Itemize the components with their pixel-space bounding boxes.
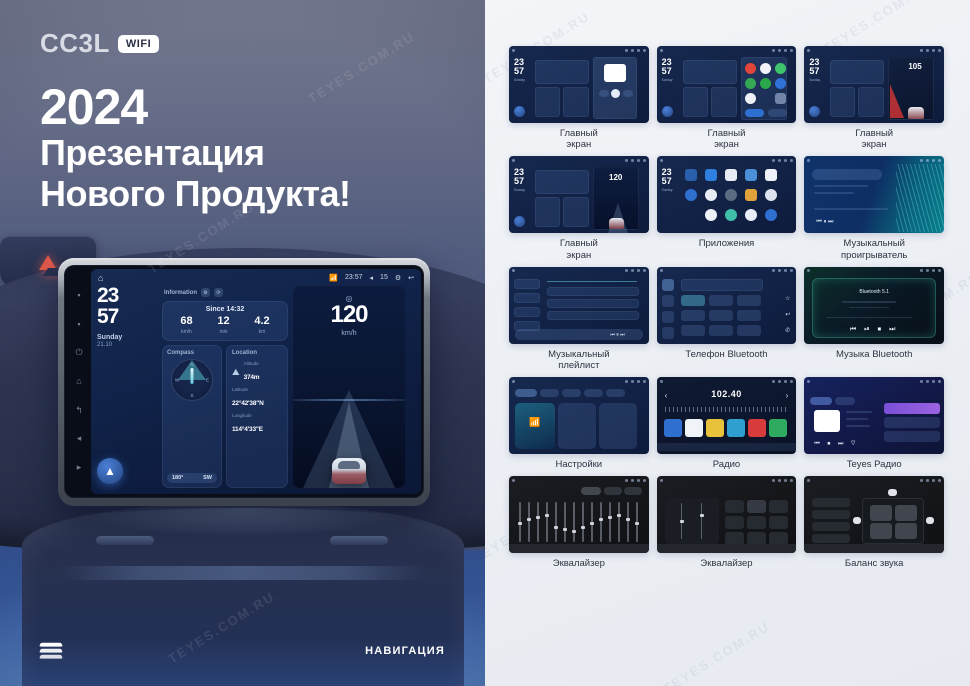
thumbnail-equalizer-bands[interactable] bbox=[509, 476, 649, 553]
radio-next-icon[interactable]: › bbox=[786, 391, 789, 400]
gallery-item[interactable]: 2357Sunday 120 Главныйэкран bbox=[509, 156, 649, 260]
gallery-item[interactable]: 📶 Настройки bbox=[509, 377, 649, 470]
gallery-item[interactable]: 2357Sunday 105 Главныйэкран bbox=[804, 46, 944, 150]
trip-stats-row: 68 km/h 12 min 4.2 km bbox=[168, 316, 282, 335]
wifi-badge: WIFI bbox=[118, 35, 159, 53]
compass-west-label: W bbox=[175, 378, 179, 383]
navigation-speed-widget[interactable]: ◎ 120 km/h bbox=[293, 286, 405, 488]
clock-hours: 23 bbox=[97, 286, 157, 307]
thumbnail-grid: 2357Sunday Главныйэкран 2357Sunday bbox=[485, 0, 970, 570]
stat-unit: min bbox=[217, 329, 229, 335]
thumbnail-caption: Баланс звука bbox=[845, 558, 904, 569]
screen-bezel: ▪ ▪ ⏻ ⌂ ↰ ◂ ▸ ⌂ 📶 23:57 ◂ 1 bbox=[64, 265, 424, 498]
home-key-icon[interactable]: ⌂ bbox=[76, 377, 81, 386]
stat-value: 68 bbox=[180, 316, 192, 327]
lower-widgets: Compass N E S W bbox=[162, 345, 288, 488]
compass-readout: 180° SW bbox=[167, 473, 217, 483]
navigation-label: НАВИГАЦИЯ bbox=[365, 645, 445, 657]
widget-column: Information ⚙ ⟳ Since 14:32 68 km/h bbox=[162, 286, 288, 488]
clock-widget: 23 57 Sunday 21.10 ▲ bbox=[97, 286, 157, 488]
bt-version-label: Bluetooth 5.1 bbox=[804, 289, 944, 295]
information-header: Information ⚙ ⟳ bbox=[162, 286, 288, 297]
thumbnail-sound-balance[interactable] bbox=[804, 476, 944, 553]
trip-stat: 4.2 km bbox=[254, 316, 269, 335]
volume-icon[interactable]: ◂ bbox=[370, 274, 374, 282]
gear-icon[interactable]: ⚙ bbox=[201, 288, 210, 297]
hazard-triangle-icon bbox=[39, 255, 57, 270]
compass-rose: N E S W bbox=[171, 359, 213, 401]
stat-value: 4.2 bbox=[254, 316, 269, 327]
head-unit-device: ▪ ▪ ⏻ ⌂ ↰ ◂ ▸ ⌂ 📶 23:57 ◂ 1 bbox=[58, 258, 430, 506]
gallery-item[interactable]: 2357Sunday Главныйэкран bbox=[657, 46, 797, 150]
thumbnail-home-speed[interactable]: 2357Sunday 120 bbox=[509, 156, 649, 233]
thumbnail-caption: Музыкальныйплейлист bbox=[548, 349, 609, 371]
location-widget[interactable]: Location ⛰ Altitude 374m bbox=[226, 345, 288, 488]
latitude-label: Latitude bbox=[232, 387, 282, 392]
clock-weekday: Sunday bbox=[97, 334, 157, 341]
thumbnail-music-player[interactable]: ⏮ ⏸ ⏭ bbox=[804, 156, 944, 233]
thumbnail-music-playlist[interactable]: ⏮ ⏸ ⏭ bbox=[509, 267, 649, 344]
longitude-row: Longitude 114°4'33"E bbox=[232, 413, 282, 436]
promo-footer: НАВИГАЦИЯ bbox=[0, 616, 485, 686]
hardkey-icon[interactable]: ▪ bbox=[77, 291, 80, 300]
thumbnail-bt-music[interactable]: Bluetooth 5.1 ⏮ ⏯ ⏹ ⏭ bbox=[804, 267, 944, 344]
gallery-item[interactable]: 102.40 ‹ › Радио bbox=[657, 377, 797, 470]
status-bar: ⌂ 📶 23:57 ◂ 15 ⚙ ↩ bbox=[91, 269, 421, 286]
gear-icon[interactable]: ⚙ bbox=[395, 274, 401, 282]
clock-date: 21.10 bbox=[97, 342, 157, 348]
air-vent-right bbox=[330, 536, 388, 545]
gallery-item[interactable]: ⏮ ⏹ ⏭ ♡ Teyes Радио bbox=[804, 377, 944, 470]
refresh-icon[interactable]: ⟳ bbox=[214, 288, 223, 297]
thumbnail-radio[interactable]: 102.40 ‹ › bbox=[657, 377, 797, 454]
thumbnail-teyes-radio[interactable]: ⏮ ⏹ ⏭ ♡ bbox=[804, 377, 944, 454]
gallery-item[interactable]: Эквалайзер bbox=[657, 476, 797, 569]
thumbnail-caption: Музыкальныйпроигрыватель bbox=[841, 238, 907, 260]
compass-widget[interactable]: Compass N E S W bbox=[162, 345, 222, 488]
gallery-item[interactable]: ⏮ ⏸ ⏭ Музыкальныйплейлист bbox=[509, 267, 649, 371]
promo-left-panel: TEYES.COM.RU TEYES.COM.RU TEYES.COM.RU C… bbox=[0, 0, 485, 686]
thumbnail-home-media[interactable]: 2357Sunday bbox=[509, 46, 649, 123]
thumbnail-caption: Главныйэкран bbox=[855, 128, 893, 150]
volume-level: 15 bbox=[380, 274, 388, 281]
gallery-item[interactable]: Эквалайзер bbox=[509, 476, 649, 569]
compass-south-label: S bbox=[190, 393, 193, 398]
thumbnail-caption: Teyes Радио bbox=[847, 459, 902, 470]
compass-heading: 180° bbox=[172, 475, 183, 481]
thumbnail-apps-grid[interactable]: 2357Sunday bbox=[657, 156, 797, 233]
vehicle-model bbox=[332, 458, 366, 484]
home-content: 23 57 Sunday 21.10 ▲ Information ⚙ bbox=[91, 286, 421, 494]
speed-value-red: 105 bbox=[908, 62, 921, 71]
thumbnail-home-speed-red[interactable]: 2357Sunday 105 bbox=[804, 46, 944, 123]
gallery-item[interactable]: ⏮ ⏸ ⏭ Музыкальныйпроигрыватель bbox=[804, 156, 944, 260]
compass-east-label: E bbox=[206, 378, 209, 383]
headline-year: 2024 bbox=[40, 82, 351, 133]
vehicle-window bbox=[338, 461, 360, 469]
mountain-icon: ⛰ bbox=[232, 367, 240, 378]
headline-line-1: Презентация bbox=[40, 133, 351, 174]
trip-information-card[interactable]: Since 14:32 68 km/h 12 min bbox=[162, 301, 288, 341]
gallery-item[interactable]: Баланс звука bbox=[804, 476, 944, 569]
status-bar-right: 📶 23:57 ◂ 15 ⚙ ↩ bbox=[329, 274, 414, 282]
gallery-item[interactable]: 2357Sunday Приложения bbox=[657, 156, 797, 260]
thumbnail-home-apps[interactable]: 2357Sunday bbox=[657, 46, 797, 123]
infotainment-screen: ⌂ 📶 23:57 ◂ 15 ⚙ ↩ 23 57 bbox=[91, 269, 421, 494]
screenshot-gallery-panel: TEYES.COM.RU TEYES.COM.RU TEYES.COM.RU T… bbox=[485, 0, 970, 686]
compass-needle-icon bbox=[191, 368, 194, 384]
stat-value: 12 bbox=[217, 316, 229, 327]
thumbnail-caption: Приложения bbox=[699, 238, 755, 249]
thumbnail-caption: Музыка Bluetooth bbox=[836, 349, 912, 360]
altitude-value: 374m bbox=[244, 374, 260, 381]
compass-title: Compass bbox=[167, 350, 217, 356]
speed-unit: km/h bbox=[341, 330, 356, 337]
brand-name: CC3L bbox=[40, 28, 110, 59]
latitude-value: 22°42'38"N bbox=[232, 400, 264, 407]
radio-prev-icon[interactable]: ‹ bbox=[665, 391, 668, 400]
layers-icon bbox=[40, 642, 62, 660]
speed-value: 120 bbox=[330, 303, 367, 327]
longitude-value: 114°4'33"E bbox=[232, 426, 263, 433]
thumbnail-caption: Настройки bbox=[556, 459, 603, 470]
longitude-label: Longitude bbox=[232, 413, 282, 418]
thumbnail-settings[interactable]: 📶 bbox=[509, 377, 649, 454]
hardware-key-strip[interactable]: ▪ ▪ ⏻ ⌂ ↰ ◂ ▸ bbox=[67, 269, 91, 494]
thumbnail-caption: Радио bbox=[713, 459, 740, 470]
trip-stat: 12 min bbox=[217, 316, 229, 335]
thumbnail-caption: Главныйэкран bbox=[560, 128, 598, 150]
information-title: Information bbox=[164, 290, 197, 296]
volume-down-key-icon[interactable]: ◂ bbox=[77, 434, 82, 443]
brand-logo: CC3L WIFI bbox=[40, 28, 159, 59]
thumbnail-bt-phone[interactable]: ☆ ↩ ✆ bbox=[657, 267, 797, 344]
altitude-label: Altitude bbox=[244, 361, 260, 366]
home-icon[interactable]: ⌂ bbox=[98, 273, 103, 283]
headline-block: 2024 Презентация Нового Продукта! bbox=[40, 82, 351, 214]
latitude-row: Latitude 22°42'38"N bbox=[232, 387, 282, 410]
compass-north-label: N bbox=[190, 362, 193, 367]
headline-line-2: Нового Продукта! bbox=[40, 174, 351, 215]
wifi-icon: 📶 bbox=[329, 274, 338, 282]
altitude-row: ⛰ Altitude 374m bbox=[232, 361, 282, 384]
trip-since-label: Since 14:32 bbox=[168, 306, 282, 313]
trip-stat: 68 km/h bbox=[180, 316, 192, 335]
location-title: Location bbox=[232, 350, 282, 356]
thumbnail-equalizer-presets[interactable] bbox=[657, 476, 797, 553]
compass-direction: SW bbox=[203, 475, 212, 481]
air-vent-left bbox=[96, 536, 154, 545]
gallery-item[interactable]: ☆ ↩ ✆ Телефон Bluetooth bbox=[657, 267, 797, 371]
assistant-icon: ▲ bbox=[104, 465, 116, 477]
back-arrow-icon[interactable]: ↩ bbox=[408, 274, 414, 282]
gallery-item[interactable]: 2357Sunday Главныйэкран bbox=[509, 46, 649, 150]
stat-unit: km/h bbox=[180, 329, 192, 335]
stat-unit: km bbox=[254, 329, 269, 335]
power-key-icon[interactable]: ⏻ bbox=[75, 348, 82, 357]
thumbnail-caption: Телефон Bluetooth bbox=[685, 349, 767, 360]
thumbnail-caption: Эквалайзер bbox=[700, 558, 752, 569]
radio-frequency: 102.40 bbox=[657, 389, 797, 399]
console-trim-strip bbox=[60, 566, 426, 580]
back-key-icon[interactable]: ↰ bbox=[75, 406, 83, 415]
volume-up-key-icon[interactable]: ▸ bbox=[77, 463, 82, 472]
watermark: TEYES.COM.RU bbox=[660, 619, 772, 686]
status-time: 23:57 bbox=[345, 274, 363, 281]
assistant-button[interactable]: ▲ bbox=[97, 458, 123, 484]
clock-minutes: 57 bbox=[97, 307, 157, 328]
gallery-item[interactable]: Bluetooth 5.1 ⏮ ⏯ ⏹ ⏭ Музыка Bluetooth bbox=[804, 267, 944, 371]
thumbnail-caption: Эквалайзер bbox=[553, 558, 605, 569]
thumbnail-caption: Главныйэкран bbox=[560, 238, 598, 260]
thumbnail-caption: Главныйэкран bbox=[708, 128, 746, 150]
hardkey-icon[interactable]: ▪ bbox=[77, 320, 80, 329]
